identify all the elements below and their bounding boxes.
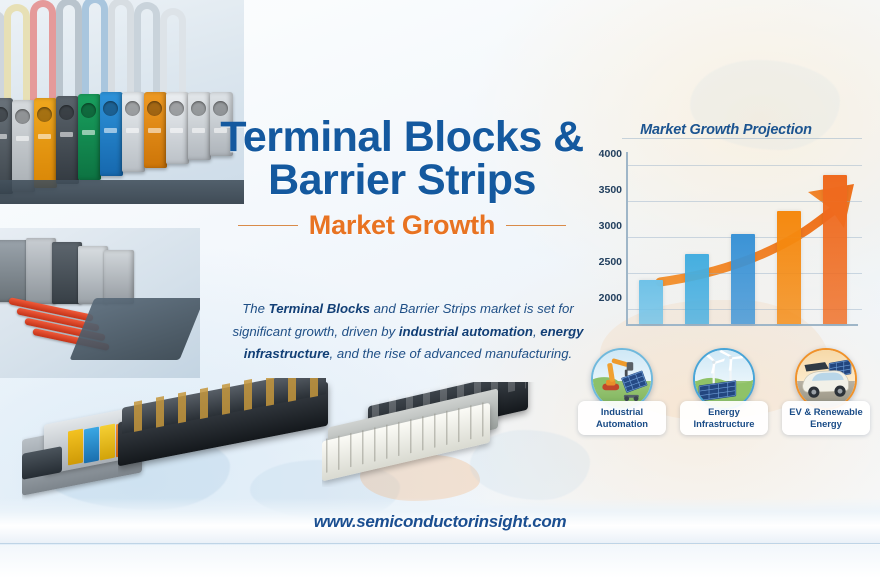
feature-label-line2: Automation [581,418,663,430]
emphasis: industrial automation [399,324,533,339]
terminal-block-module [34,98,57,188]
title-line-2: Barrier Strips [216,159,588,202]
chart-bar[interactable] [685,254,709,324]
photo-white-barrier-strip [322,382,542,487]
feature-label: Industrial Automation [578,401,666,435]
feature-label-line1: EV & Renewable [785,406,867,418]
photo-black-barrier-strip [118,378,338,478]
divider-right [506,225,566,226]
subtitle: Market Growth [309,210,495,241]
terminal-block-module [144,92,167,168]
chart-y-tick-label: 2000 [599,292,622,304]
feature-label-line1: Industrial [581,406,663,418]
divider-left [238,225,298,226]
terminal-block-module [12,100,35,192]
chart-y-tick-label: 3500 [599,184,622,196]
feature-label: Energy Infrastructure [680,401,768,435]
terminal-block-module [100,92,123,176]
feature-list: Industrial Automation [578,348,870,435]
chart-bar[interactable] [777,211,801,324]
chart-plot-area: 20002500300035004000 [626,152,858,326]
chart-top-rule [622,138,862,139]
chart-y-tick-label: 4000 [599,148,622,160]
chart-title: Market Growth Projection [588,122,864,138]
feature-label: EV & Renewable Energy [782,401,870,435]
infographic-canvas: Terminal Blocks & Barrier Strips Market … [0,0,880,578]
chart-gridline [628,165,862,166]
feature-industrial-automation[interactable]: Industrial Automation [578,348,666,435]
chart-bar[interactable] [639,280,663,324]
terminal-block-module [122,92,145,172]
title-line-1: Terminal Blocks & [216,116,588,159]
body-paragraph: The Terminal Blocks and Barrier Strips m… [232,298,584,366]
feature-ev-renewable-energy[interactable]: EV & Renewable Energy [782,348,870,435]
feature-energy-infrastructure[interactable]: Energy Infrastructure [680,348,768,435]
chart-bar[interactable] [731,234,755,324]
website-url[interactable]: www.semiconductorinsight.com [0,512,880,532]
feature-label-line2: Infrastructure [683,418,765,430]
emphasis: Terminal Blocks [269,301,370,316]
page-title: Terminal Blocks & Barrier Strips Market … [216,116,588,242]
chart-bar[interactable] [823,175,847,324]
chart-y-tick-label: 3000 [599,220,622,232]
feature-label-line2: Energy [785,418,867,430]
terminal-block-module [56,96,79,184]
photo-din-rail-blocks [0,228,200,378]
terminal-block-module [78,94,101,180]
market-growth-chart: Market Growth Projection 200025003000350… [588,122,864,340]
chart-y-tick-label: 2500 [599,256,622,268]
subtitle-row: Market Growth [216,208,588,242]
feature-label-line1: Energy [683,406,765,418]
terminal-block-module [166,92,189,164]
bottom-margin [0,545,880,578]
photo-terminal-blocks-wires [0,0,244,204]
terminal-block-module [188,92,211,160]
